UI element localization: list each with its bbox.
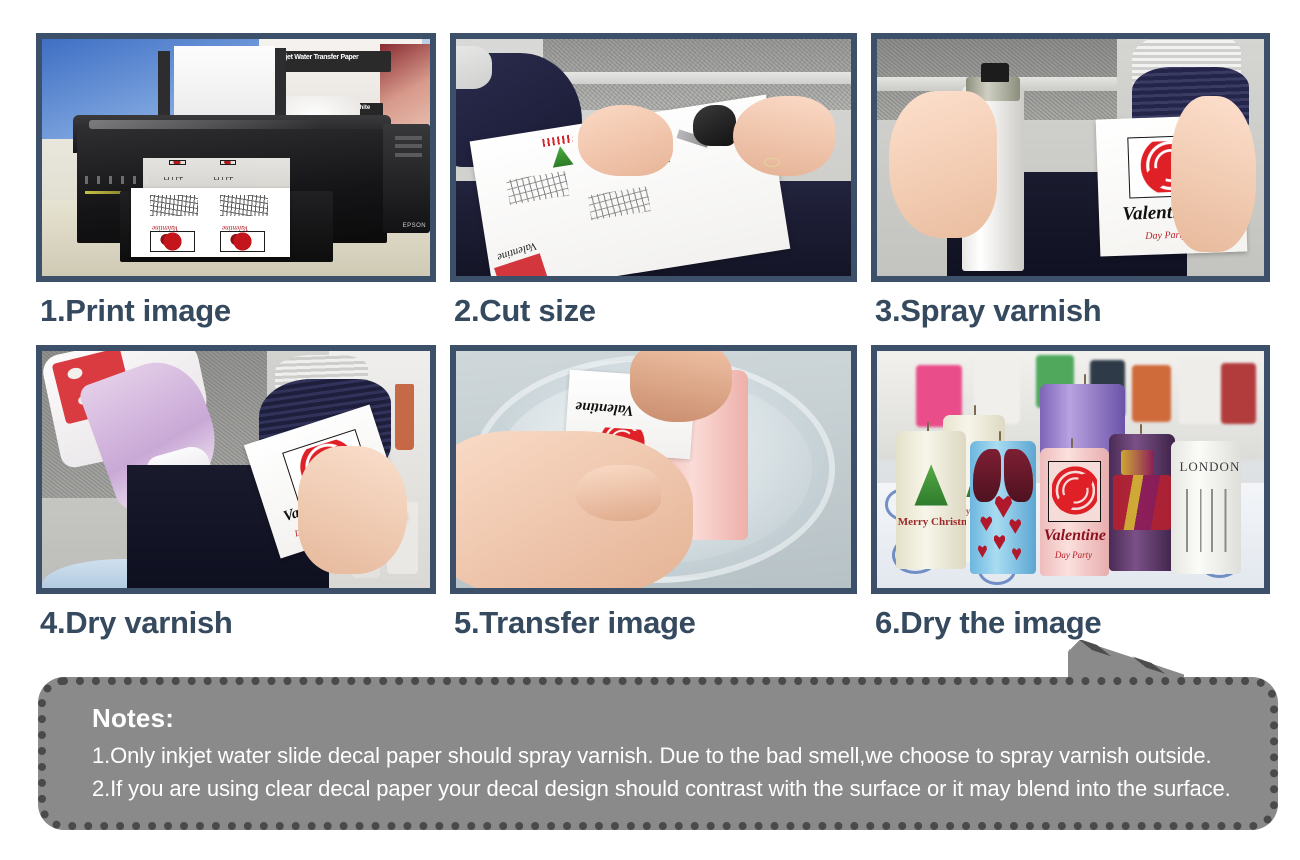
lid-highlight — [89, 120, 322, 129]
notes-line-1: 1.Only inkjet water slide decal paper sh… — [92, 740, 1244, 773]
heart-6 — [1012, 547, 1021, 560]
table-edge — [543, 72, 851, 84]
candle-graffiti — [1109, 434, 1175, 571]
printed-drawing-1 — [150, 195, 198, 216]
step-5-caption: 5.Transfer image — [450, 594, 857, 643]
decal-title: Valentine — [574, 398, 633, 419]
paper-line-drawing-1 — [506, 171, 569, 205]
wick-valentine — [1071, 438, 1073, 447]
left-hand-holding-can — [889, 91, 997, 238]
candle-london: LONDON — [1171, 441, 1241, 574]
wick-graffiti — [1140, 424, 1142, 433]
step-3-photo-frame: Valentine Day Party — [871, 33, 1270, 282]
printed-rose-2 — [220, 231, 265, 252]
grey-cuff — [456, 46, 492, 89]
finger — [575, 465, 662, 522]
step-5-transfer-image: Valentine Day Party 5.Transfer image — [450, 345, 857, 643]
candle-merry-christmas: Merry Christmas — [896, 431, 966, 568]
cutting-photo: Valentine — [456, 39, 851, 276]
notes-line-2: 2.If you are using clear decal paper you… — [92, 773, 1244, 806]
graffiti-art-2 — [1121, 450, 1154, 475]
wick-hearts — [999, 431, 1001, 440]
printer-photo: ...kjet Water Transfer Paper White Clear — [42, 39, 430, 276]
printer-ink-tank — [383, 124, 430, 233]
valentine-rose-art — [1052, 465, 1097, 517]
step-4-photo-frame: Valentine Day Party — [36, 345, 436, 594]
paper-red-print-1 — [542, 135, 573, 147]
printed-rose-back-2 — [220, 160, 236, 165]
spray-varnish-photo: Valentine Day Party — [877, 39, 1264, 276]
paper-line-drawing-2 — [587, 186, 650, 220]
step-3-spray-varnish: Valentine Day Party 3.Spray varnish — [871, 33, 1270, 331]
notes-box: Notes: 1.Only inkjet water slide decal p… — [38, 677, 1278, 830]
wing-right — [1004, 449, 1033, 502]
left-hand-holding-paper — [578, 105, 673, 176]
hand-pressing-decal — [456, 431, 693, 587]
paper-feed-arm-right — [275, 48, 287, 114]
printed-decal-sheet: Valentine Valentine — [131, 188, 290, 257]
poster-banner-text: ...kjet Water Transfer Paper — [275, 50, 391, 64]
paper-christmas-tree-1 — [549, 145, 573, 168]
finger-ring — [764, 158, 780, 167]
printed-script-back-1 — [164, 177, 183, 180]
printed-script-back-2 — [214, 177, 233, 180]
candle-valentine: Valentine Day Party — [1040, 448, 1110, 576]
christmas-tree-motif — [914, 464, 947, 505]
valentine-candle-subtitle: Day Party — [1055, 550, 1092, 560]
steps-grid: ...kjet Water Transfer Paper White Clear — [36, 33, 1262, 643]
step-6-dry-the-image: Merry Christmas Merry Christmas — [871, 345, 1270, 643]
valentine-candle-title: Valentine — [1044, 527, 1106, 545]
dry-varnish-photo: Valentine Day Party — [42, 351, 430, 588]
notes-callout: Notes: 1.Only inkjet water slide decal p… — [22, 640, 1278, 840]
infographic-page: ...kjet Water Transfer Paper White Clear — [0, 0, 1300, 860]
candle-hearts-wings — [970, 441, 1036, 574]
step-2-photo-frame: Valentine — [450, 33, 857, 282]
paper-feed-arm-left — [158, 51, 170, 122]
step-2-caption: 2.Cut size — [450, 282, 857, 331]
printed-rose-1 — [150, 231, 195, 252]
step-1-print-image: ...kjet Water Transfer Paper White Clear — [36, 33, 436, 331]
printed-rose-back-1 — [169, 160, 185, 165]
notes-title: Notes: — [92, 703, 1244, 734]
step-1-photo-frame: ...kjet Water Transfer Paper White Clear — [36, 33, 436, 282]
printed-drawing-2 — [220, 195, 268, 216]
wing-left — [973, 449, 1002, 502]
heart-1 — [995, 494, 1012, 518]
step-6-photo-frame: Merry Christmas Merry Christmas — [871, 345, 1270, 594]
transfer-image-photo: Valentine Day Party — [456, 351, 851, 588]
heart-3 — [1009, 518, 1021, 534]
hand-holding-card — [298, 446, 407, 574]
step-6-caption: 6.Dry the image — [871, 594, 1270, 643]
tower-bridge-drawing — [1175, 489, 1236, 553]
valentine-rose-frame — [1048, 461, 1101, 522]
bg-mug-red — [1221, 363, 1256, 425]
vent-line-2 — [395, 144, 422, 148]
step-4-dry-varnish: Valentine Day Party 4.Dry varnish — [36, 345, 436, 643]
sticker-dot-1 — [65, 366, 83, 380]
scissors-handle — [693, 105, 736, 145]
step-5-photo-frame: Valentine Day Party — [450, 345, 857, 594]
vent-line-3 — [395, 153, 422, 157]
heart-4 — [994, 534, 1006, 550]
spray-nozzle[interactable] — [981, 63, 1008, 82]
heart-2 — [980, 515, 992, 531]
printer-brand-label: EPSON — [403, 223, 427, 229]
right-hand-holding-card — [1171, 96, 1256, 252]
shelf-bottle-1 — [395, 384, 414, 450]
bg-mug-orange — [1132, 365, 1171, 422]
step-1-caption: 1.Print image — [36, 282, 436, 331]
step-3-caption: 3.Spray varnish — [871, 282, 1270, 331]
poster-banner: ...kjet Water Transfer Paper — [275, 51, 391, 72]
graffiti-art — [1113, 475, 1171, 530]
christmas-candle-text: Merry Christmas — [898, 517, 965, 529]
step-2-cut-size: Valentine 2.Cut size — [450, 33, 857, 331]
bg-mug-white-2 — [1179, 358, 1222, 424]
step-4-caption: 4.Dry varnish — [36, 594, 436, 643]
london-candle-text: LONDON — [1179, 459, 1240, 475]
right-hand-with-scissors — [733, 96, 836, 177]
heart-5 — [978, 544, 987, 557]
vent-line-1 — [395, 136, 422, 140]
printer-buttons[interactable] — [85, 176, 151, 183]
finished-candles-photo: Merry Christmas Merry Christmas — [877, 351, 1264, 588]
